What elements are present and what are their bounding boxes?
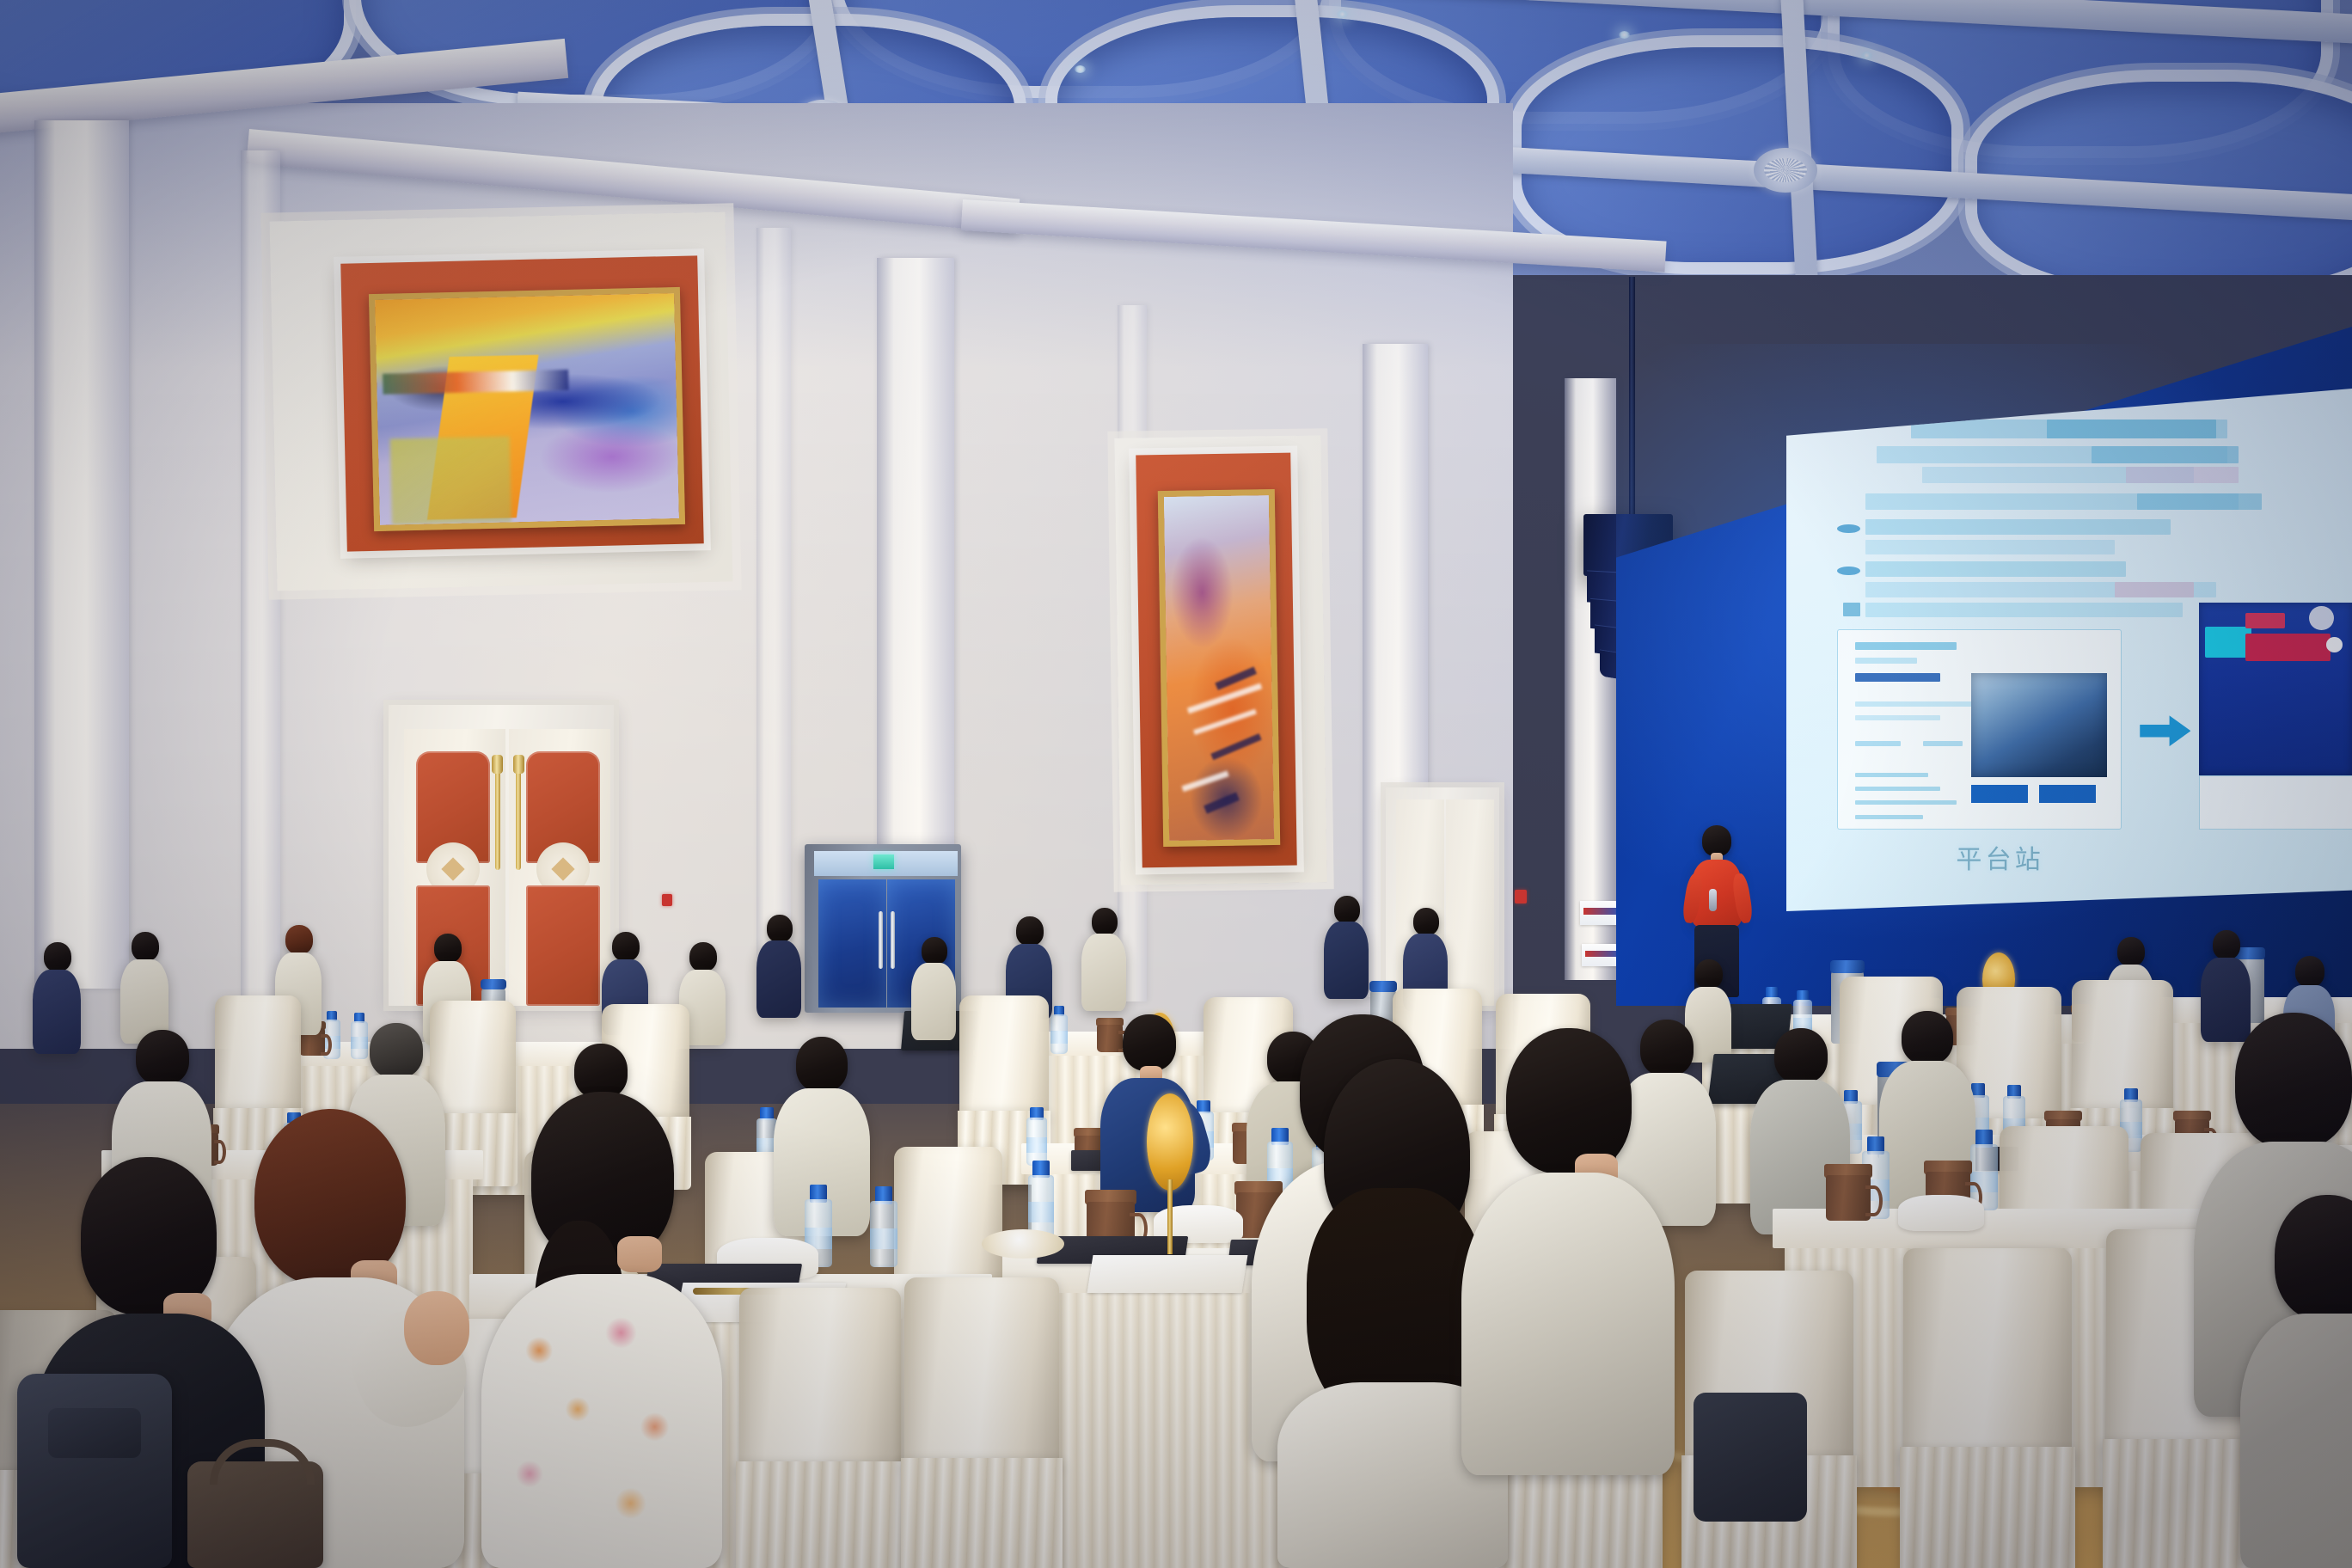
notepad: [1087, 1255, 1248, 1293]
banquet-chair[interactable]: [1903, 1248, 2072, 1568]
tea-mug: [1826, 1164, 1871, 1221]
door-leaf-right[interactable]: [509, 729, 610, 1006]
water-bottle: [1050, 1006, 1068, 1054]
backpack-pocket: [48, 1408, 141, 1458]
attendee-foreground: [2240, 1195, 2352, 1568]
slide-button: [2039, 785, 2096, 803]
slide-caption: 平台站: [1956, 838, 2044, 876]
door-handle[interactable]: [516, 767, 521, 870]
water-bottle: [870, 1186, 897, 1267]
cooler-display-icon: [873, 854, 894, 870]
ceiling-rosette-icon: [1754, 148, 1817, 193]
banquet-chair[interactable]: [904, 1277, 1059, 1568]
side-door-leaf-right[interactable]: [1446, 799, 1494, 1006]
door-handle-finial: [492, 755, 503, 774]
attendee-foreground: [481, 1092, 722, 1568]
table-number-stand: [1147, 1093, 1193, 1250]
bag: [1694, 1393, 1807, 1522]
hand: [404, 1291, 469, 1365]
candy-dish: [982, 1229, 1064, 1259]
projection-screen: 平台站: [1786, 389, 2352, 911]
conference-hall-photo: 平台站: [0, 0, 2352, 1568]
water-bottle: [1028, 1161, 1054, 1240]
fire-alarm-icon: [1515, 890, 1527, 903]
banquet-chair[interactable]: [739, 1288, 901, 1568]
backpack: [17, 1374, 172, 1568]
right-arrow-icon: [2140, 713, 2190, 750]
door-handle[interactable]: [495, 767, 500, 870]
floral-blouse: [481, 1274, 722, 1568]
artwork-abstract-landscape: [369, 287, 685, 531]
door-handle-finial: [513, 755, 524, 774]
slide-phone-mockup: [2199, 603, 2352, 775]
handheld-microphone: [1709, 889, 1717, 911]
artwork-abstract-figure: [1158, 489, 1280, 847]
slide-phone-footer: [2199, 775, 2352, 830]
slide-thumbnail-image: [1971, 673, 2107, 776]
water-bottle: [1026, 1107, 1047, 1166]
slide-content-card: [1837, 629, 2122, 830]
slide-button: [1971, 785, 2028, 803]
attendee-foreground: [1461, 1028, 1675, 1475]
fire-alarm-icon: [662, 894, 672, 906]
hand-towel: [1898, 1195, 1984, 1231]
